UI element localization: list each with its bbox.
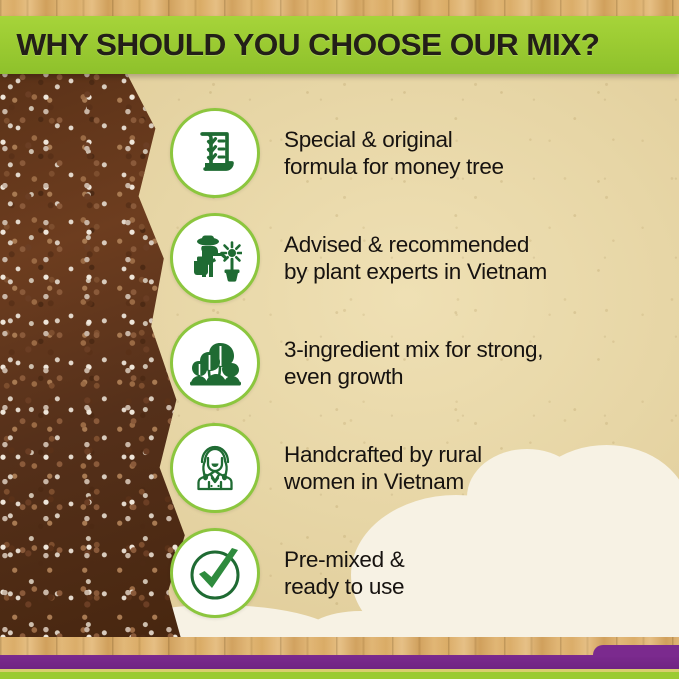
- feature-icon-badge: [170, 423, 260, 513]
- list-item: Pre-mixed & ready to use: [170, 520, 679, 625]
- infographic-panel: WHY SHOULD YOU CHOOSE OUR MIX?: [0, 0, 679, 679]
- feature-line-1: Special & original: [284, 126, 504, 153]
- feature-line-1: Pre-mixed &: [284, 546, 404, 573]
- feature-list: Special & original formula for money tre…: [170, 100, 679, 625]
- feature-line-1: Advised & recommended: [284, 231, 547, 258]
- footer-bar: [0, 637, 679, 679]
- feature-icon-badge: [170, 213, 260, 303]
- feature-icon-badge: [170, 108, 260, 198]
- feature-text: Advised & recommended by plant experts i…: [284, 231, 547, 285]
- feature-line-1: 3-ingredient mix for strong,: [284, 336, 543, 363]
- checklist-scroll-icon: [189, 127, 241, 179]
- page-title: WHY SHOULD YOU CHOOSE OUR MIX?: [0, 27, 612, 63]
- checkmark-circle-icon: [186, 544, 244, 602]
- list-item: 3-ingredient mix for strong, even growth: [170, 310, 679, 415]
- header-banner: WHY SHOULD YOU CHOOSE OUR MIX?: [0, 16, 679, 74]
- footer-green-band: [0, 672, 679, 679]
- gardener-watering-icon: [188, 231, 242, 285]
- sprouting-leaves-icon: [187, 337, 243, 389]
- feature-icon-badge: [170, 318, 260, 408]
- feature-line-2: by plant experts in Vietnam: [284, 258, 547, 285]
- feature-text: Pre-mixed & ready to use: [284, 546, 404, 600]
- list-item: Special & original formula for money tre…: [170, 100, 679, 205]
- feature-text: Handcrafted by rural women in Vietnam: [284, 441, 482, 495]
- list-item: Advised & recommended by plant experts i…: [170, 205, 679, 310]
- rural-woman-icon: [189, 442, 241, 494]
- list-item: Handcrafted by rural women in Vietnam: [170, 415, 679, 520]
- feature-text: 3-ingredient mix for strong, even growth: [284, 336, 543, 390]
- feature-line-2: women in Vietnam: [284, 468, 482, 495]
- feature-icon-badge: [170, 528, 260, 618]
- feature-line-2: formula for money tree: [284, 153, 504, 180]
- feature-line-2: ready to use: [284, 573, 404, 600]
- feature-line-2: even growth: [284, 363, 543, 390]
- feature-text: Special & original formula for money tre…: [284, 126, 504, 180]
- feature-line-1: Handcrafted by rural: [284, 441, 482, 468]
